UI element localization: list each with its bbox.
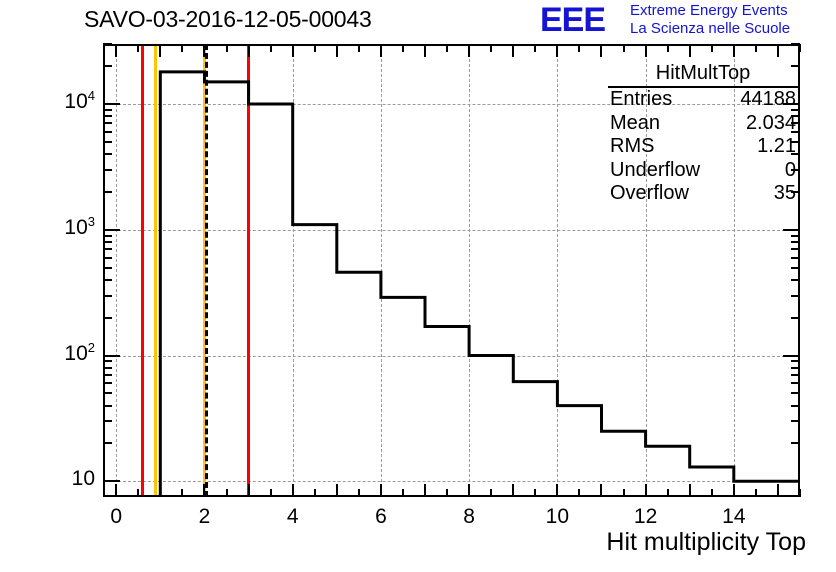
x-tick bbox=[181, 489, 183, 497]
y-tick bbox=[103, 382, 112, 384]
y-tick bbox=[103, 392, 112, 394]
stats-value: 44188 bbox=[740, 88, 796, 112]
y-tick bbox=[103, 360, 112, 362]
stats-row: Underflow0 bbox=[608, 159, 798, 183]
x-tick-top bbox=[556, 44, 558, 57]
y-tick bbox=[103, 153, 112, 155]
x-tick bbox=[292, 484, 294, 497]
x-tick bbox=[534, 489, 536, 497]
x-tick-top bbox=[203, 44, 205, 57]
stats-key: Underflow bbox=[610, 159, 700, 183]
x-tick-top bbox=[226, 44, 228, 52]
x-tick-top bbox=[799, 44, 801, 52]
x-axis-tick-label: 4 bbox=[263, 505, 323, 529]
y-tick-right bbox=[791, 317, 800, 319]
x-tick-top bbox=[468, 44, 470, 57]
y-tick-right bbox=[783, 229, 800, 231]
x-tick-top bbox=[645, 44, 647, 57]
y-tick bbox=[103, 241, 112, 243]
x-tick-top bbox=[534, 44, 536, 52]
x-tick bbox=[446, 489, 448, 497]
stats-box-rows: Entries44188Mean2.034RMS1.21Underflow0Ov… bbox=[608, 88, 798, 206]
x-tick bbox=[159, 484, 161, 497]
y-tick bbox=[103, 267, 112, 269]
x-axis-tick-label: 6 bbox=[351, 505, 411, 529]
x-axis-tick-label: 8 bbox=[439, 505, 499, 529]
eee-logo-text: Extreme Energy Events La Scienza nelle S… bbox=[630, 2, 834, 38]
x-tick-top bbox=[380, 44, 382, 57]
y-tick-right bbox=[791, 248, 800, 250]
stats-value: 2.034 bbox=[746, 112, 796, 136]
y-tick bbox=[103, 405, 112, 407]
x-tick bbox=[424, 484, 426, 497]
x-tick-top bbox=[578, 44, 580, 52]
y-tick bbox=[103, 131, 112, 133]
y-tick bbox=[103, 229, 120, 231]
y-tick bbox=[103, 420, 112, 422]
x-tick bbox=[490, 489, 492, 497]
x-tick bbox=[468, 484, 470, 497]
stats-row: Entries44188 bbox=[608, 88, 798, 112]
x-tick-top bbox=[336, 44, 338, 57]
y-tick-right bbox=[791, 442, 800, 444]
y-tick-right bbox=[791, 405, 800, 407]
x-tick-top bbox=[755, 44, 757, 52]
x-tick-top bbox=[270, 44, 272, 52]
y-tick bbox=[103, 367, 112, 369]
y-tick-right bbox=[791, 235, 800, 237]
x-tick bbox=[115, 484, 117, 497]
x-axis-tick-label: 10 bbox=[527, 505, 587, 529]
y-tick bbox=[103, 374, 112, 376]
x-axis-tick-label: 14 bbox=[704, 505, 764, 529]
x-tick bbox=[358, 489, 360, 497]
y-tick-right bbox=[791, 43, 800, 45]
y-tick bbox=[103, 65, 112, 67]
page-title: SAVO-03-2016-12-05-00043 bbox=[84, 6, 372, 33]
y-axis-tick-label: 10 bbox=[72, 467, 95, 491]
y-tick-right bbox=[791, 295, 800, 297]
y-tick bbox=[103, 191, 112, 193]
x-tick bbox=[667, 489, 669, 497]
stats-key: Mean bbox=[610, 112, 660, 136]
x-tick bbox=[733, 484, 735, 497]
stats-row: Overflow35 bbox=[608, 182, 798, 206]
x-tick bbox=[578, 489, 580, 497]
eee-logo-line-1: Extreme Energy Events bbox=[630, 2, 834, 20]
x-tick-top bbox=[292, 44, 294, 57]
y-tick-right bbox=[791, 241, 800, 243]
y-tick-right bbox=[783, 355, 800, 357]
y-tick bbox=[103, 43, 112, 45]
y-tick-right bbox=[791, 374, 800, 376]
x-tick bbox=[799, 489, 801, 497]
stats-value: 1.21 bbox=[757, 135, 796, 159]
y-tick bbox=[103, 480, 120, 482]
x-tick bbox=[380, 484, 382, 497]
y-tick bbox=[103, 103, 120, 105]
x-tick-top bbox=[446, 44, 448, 52]
x-tick-top bbox=[115, 44, 117, 57]
x-tick-top bbox=[600, 44, 602, 57]
y-tick-right bbox=[791, 382, 800, 384]
stats-box: HitMultTop Entries44188Mean2.034RMS1.21U… bbox=[608, 62, 798, 206]
x-tick-top bbox=[159, 44, 161, 57]
eee-logo-mark: EEE bbox=[540, 4, 624, 36]
y-tick bbox=[103, 169, 112, 171]
x-tick-top bbox=[424, 44, 426, 57]
y-tick-right bbox=[791, 360, 800, 362]
y-tick bbox=[103, 257, 112, 259]
x-axis-tick-label: 12 bbox=[616, 505, 676, 529]
x-tick bbox=[270, 489, 272, 497]
x-tick-top bbox=[733, 44, 735, 57]
stats-box-title: HitMultTop bbox=[608, 62, 798, 88]
y-tick bbox=[103, 141, 112, 143]
y-tick-right bbox=[791, 420, 800, 422]
y-tick-right bbox=[791, 279, 800, 281]
x-tick bbox=[711, 489, 713, 497]
stats-value: 0 bbox=[785, 159, 796, 183]
x-tick bbox=[314, 489, 316, 497]
eee-logo: EEE Extreme Energy Events La Scienza nel… bbox=[540, 2, 834, 40]
y-tick bbox=[103, 248, 112, 250]
stats-row: Mean2.034 bbox=[608, 112, 798, 136]
y-tick bbox=[103, 295, 112, 297]
stats-key: RMS bbox=[610, 135, 654, 159]
x-tick bbox=[600, 484, 602, 497]
x-tick bbox=[512, 484, 514, 497]
x-tick bbox=[137, 489, 139, 497]
x-tick-top bbox=[358, 44, 360, 52]
x-axis-tick-label: 2 bbox=[174, 505, 234, 529]
y-tick bbox=[103, 115, 112, 117]
x-tick-top bbox=[623, 44, 625, 52]
x-axis-title: Hit multiplicity Top bbox=[606, 528, 806, 557]
x-tick bbox=[777, 484, 779, 497]
stats-key: Overflow bbox=[610, 182, 689, 206]
x-tick-top bbox=[314, 44, 316, 52]
stats-key: Entries bbox=[610, 88, 672, 112]
y-axis-tick-label: 104 bbox=[64, 90, 95, 114]
x-tick-top bbox=[248, 44, 250, 57]
y-tick-right bbox=[791, 392, 800, 394]
y-tick bbox=[103, 355, 120, 357]
y-tick bbox=[103, 279, 112, 281]
x-tick bbox=[248, 484, 250, 497]
y-tick bbox=[103, 109, 112, 111]
y-tick-right bbox=[791, 367, 800, 369]
x-tick bbox=[402, 489, 404, 497]
x-axis-tick-label: 0 bbox=[86, 505, 146, 529]
y-axis-tick-label: 103 bbox=[64, 216, 95, 240]
x-tick-top bbox=[711, 44, 713, 52]
x-tick-top bbox=[689, 44, 691, 57]
x-tick-top bbox=[137, 44, 139, 52]
y-tick-right bbox=[783, 480, 800, 482]
x-tick bbox=[755, 489, 757, 497]
x-tick-top bbox=[490, 44, 492, 52]
y-tick bbox=[103, 442, 112, 444]
x-tick-top bbox=[512, 44, 514, 57]
y-axis-tick-label: 102 bbox=[64, 342, 95, 366]
x-tick bbox=[336, 484, 338, 497]
y-tick bbox=[103, 122, 112, 124]
x-tick bbox=[689, 484, 691, 497]
x-tick-top bbox=[777, 44, 779, 57]
stats-row: RMS1.21 bbox=[608, 135, 798, 159]
x-tick-top bbox=[181, 44, 183, 52]
x-tick-top bbox=[667, 44, 669, 52]
y-tick bbox=[103, 317, 112, 319]
x-tick bbox=[623, 489, 625, 497]
y-tick-right bbox=[791, 257, 800, 259]
y-tick-right bbox=[791, 267, 800, 269]
x-tick-top bbox=[402, 44, 404, 52]
x-tick bbox=[645, 484, 647, 497]
root-canvas: SAVO-03-2016-12-05-00043 EEE Extreme Ene… bbox=[0, 0, 836, 572]
eee-logo-line-2: La Scienza nelle Scuole bbox=[630, 20, 834, 38]
stats-value: 35 bbox=[774, 182, 796, 206]
y-tick bbox=[103, 235, 112, 237]
x-tick bbox=[226, 489, 228, 497]
x-tick bbox=[203, 484, 205, 497]
x-tick bbox=[556, 484, 558, 497]
